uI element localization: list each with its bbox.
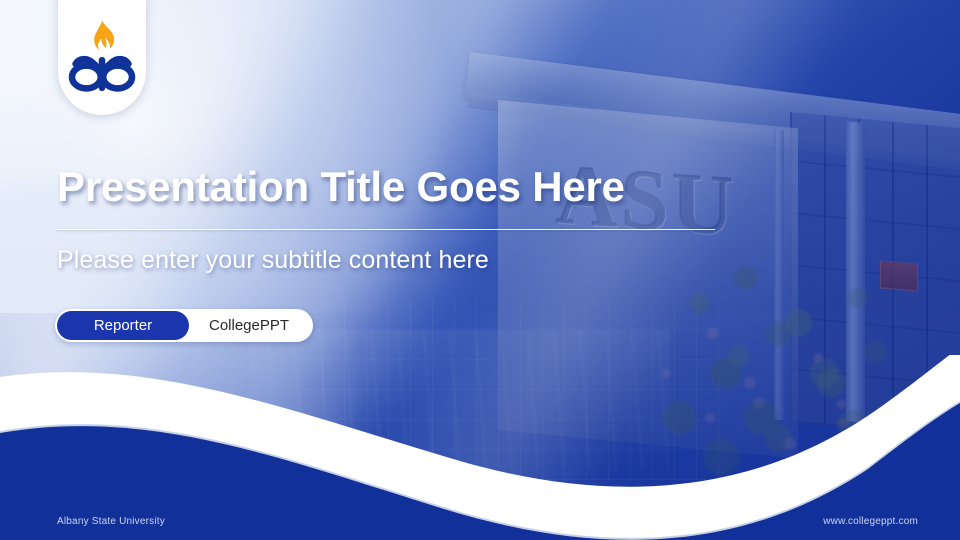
reporter-badge[interactable]: Reporter CollegePPT: [55, 309, 313, 342]
monogram-icon: [72, 59, 132, 88]
presentation-slide: ASU: [0, 0, 960, 540]
logo-plate: [58, 0, 146, 115]
wave-svg: [0, 355, 960, 540]
flame-icon: [94, 21, 114, 50]
title-underline-rule: [57, 229, 715, 230]
footer-website[interactable]: www.collegeppt.com: [823, 516, 918, 527]
footer-institution: Albany State University: [57, 516, 165, 527]
wave-decoration: [0, 355, 960, 540]
reporter-label[interactable]: Reporter: [57, 311, 189, 340]
asu-flame-monogram-icon: [66, 16, 138, 102]
reporter-value[interactable]: CollegePPT: [189, 317, 311, 334]
page-title: Presentation Title Goes Here: [57, 163, 625, 211]
page-subtitle: Please enter your subtitle content here: [57, 246, 489, 275]
